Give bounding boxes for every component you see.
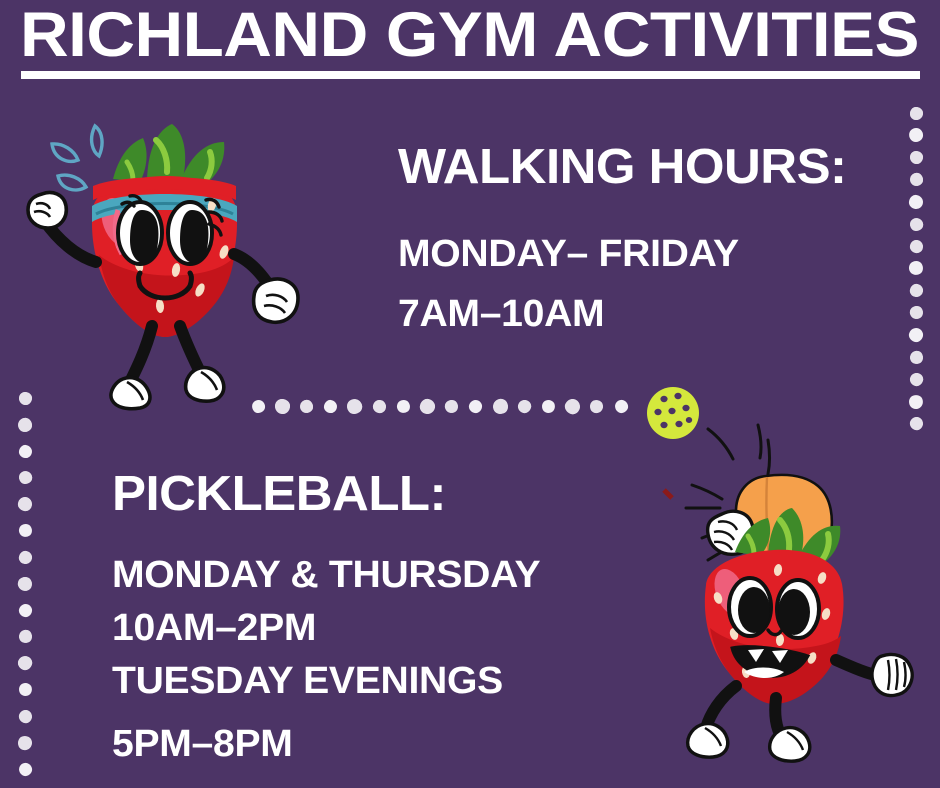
poster-canvas: RICHLAND GYM ACTIVITIES WALKING HOURS: M…: [0, 0, 940, 788]
decorative-dot: [490, 396, 510, 416]
strawberry-leaves-icon: [113, 124, 224, 184]
decorative-dot: [16, 522, 34, 540]
decorative-dot: [394, 397, 412, 415]
decorative-dot: [908, 194, 924, 210]
pickleball-ball-icon: [647, 387, 699, 439]
decorative-dot: [16, 574, 35, 593]
walking-hours-days: MONDAY– FRIDAY: [398, 228, 739, 280]
decorative-dot: [906, 125, 926, 145]
decorative-dot: [16, 628, 33, 645]
decorative-dot: [16, 734, 33, 751]
decorative-dot: [516, 397, 533, 414]
decorative-dot: [18, 444, 33, 459]
decorative-dot: [467, 398, 484, 415]
decorative-dot: [907, 304, 924, 321]
pickleball-strawberry-character: [640, 380, 940, 780]
decorative-dot: [344, 396, 365, 417]
decorative-dot: [323, 399, 338, 414]
decorative-dot: [908, 238, 923, 253]
pickleball-times-1: 10AM–2PM: [112, 602, 316, 654]
decorative-dot: [17, 602, 34, 619]
decorative-dot: [418, 397, 437, 416]
decorative-dot: [17, 681, 34, 698]
walking-strawberry-character: [0, 90, 320, 420]
decorative-dot: [907, 215, 925, 233]
decorative-dot: [907, 170, 925, 188]
walking-hours-times: 7AM–10AM: [398, 288, 604, 340]
decorative-dot: [906, 259, 925, 278]
decorative-dot: [612, 397, 630, 415]
decorative-dot: [16, 468, 34, 486]
walking-hours-heading: WALKING HOURS:: [398, 139, 847, 195]
decorative-dot: [443, 397, 460, 414]
decorative-dot: [909, 150, 923, 164]
decorative-dot: [17, 549, 33, 565]
pickleball-days-1: MONDAY & THURSDAY: [112, 549, 540, 601]
decorative-dot: [589, 398, 605, 414]
decorative-dot: [908, 283, 924, 299]
decorative-dot: [907, 349, 924, 366]
pickleball-times-2: 5PM–8PM: [112, 718, 293, 770]
decorative-dot: [910, 107, 923, 120]
page-title: RICHLAND GYM ACTIVITIES: [20, 2, 940, 68]
pickleball-heading: PICKLEBALL:: [112, 466, 446, 522]
title-underline: [21, 71, 920, 79]
decorative-dot: [371, 398, 386, 413]
decorative-dot: [907, 326, 925, 344]
pickleball-days-2: TUESDAY EVENINGS: [112, 655, 503, 707]
decorative-dot: [562, 396, 582, 416]
decorative-dot: [17, 496, 34, 513]
decorative-dot: [540, 398, 557, 415]
sweat-drop-icons: [52, 126, 102, 190]
open-glove-icon: [872, 654, 912, 695]
decorative-dot: [16, 760, 34, 778]
decorative-dot: [16, 707, 34, 725]
decorative-dot: [16, 654, 34, 672]
shoe-icons: [688, 724, 810, 762]
